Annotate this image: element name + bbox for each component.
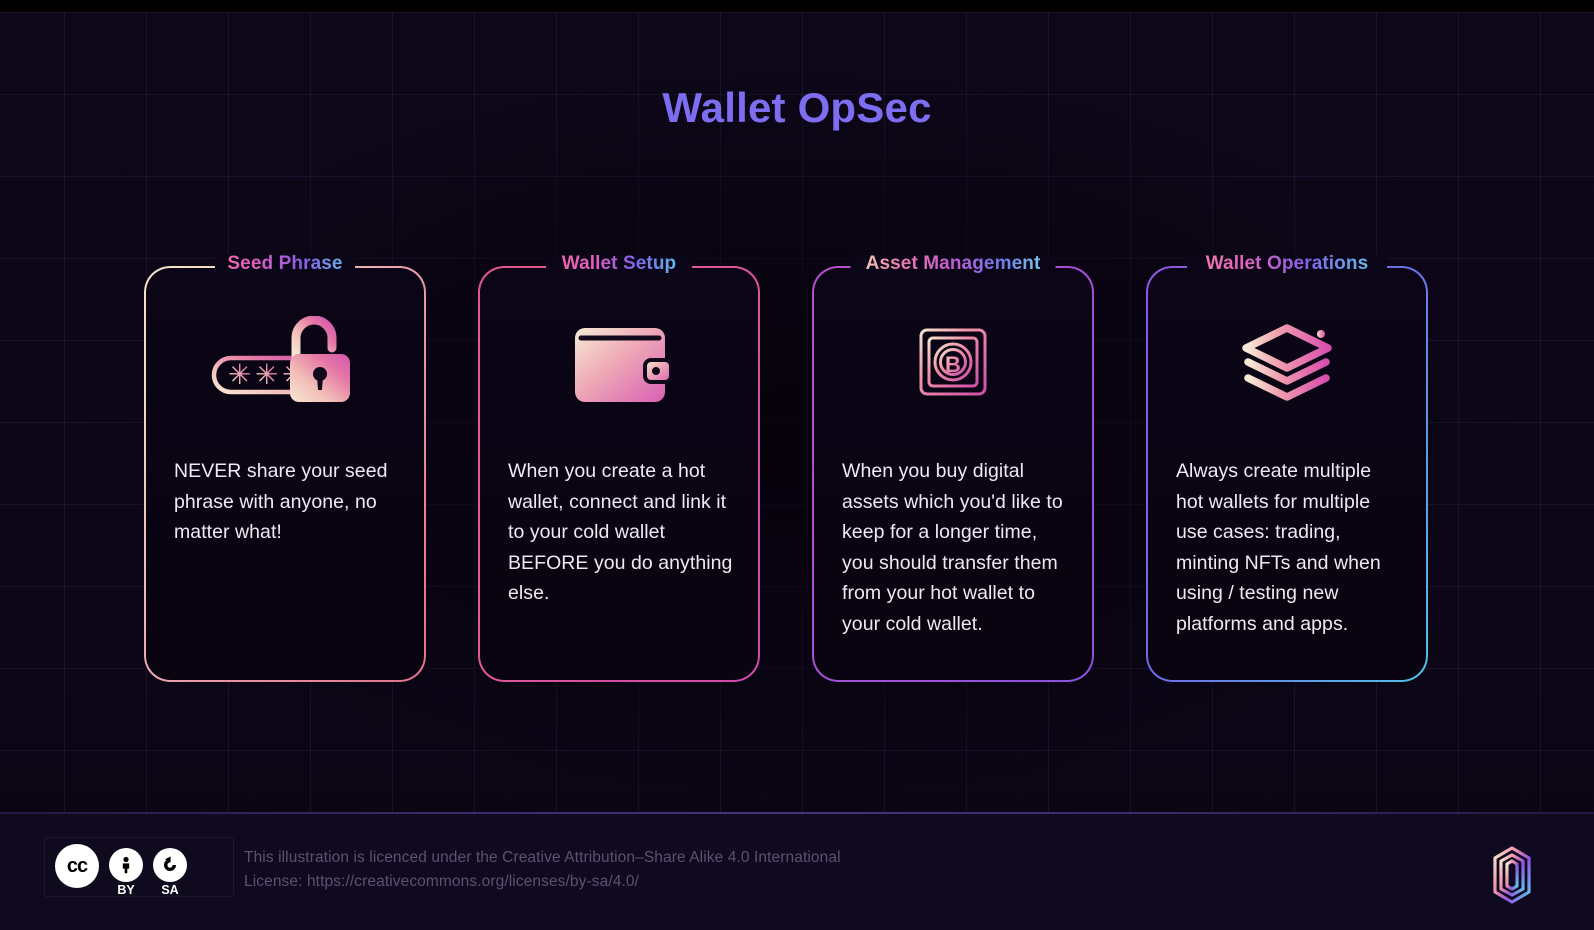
page-title: Wallet OpSec bbox=[0, 84, 1594, 132]
cc-icon: cc bbox=[55, 844, 99, 888]
card-heading-seed-phrase: Seed Phrase bbox=[215, 253, 354, 275]
card-body-wallet-operations: Always create multiple hot wallets for m… bbox=[1176, 456, 1402, 639]
cc-mark-col: cc bbox=[55, 844, 99, 888]
cards-row: Seed Phrase bbox=[142, 264, 1442, 689]
svg-text:✳: ✳ bbox=[228, 358, 251, 391]
brand-logo-icon bbox=[1482, 840, 1546, 912]
cc-by-label: BY bbox=[117, 883, 134, 897]
person-icon bbox=[109, 848, 143, 882]
card-heading-asset-management: Asset Management bbox=[854, 253, 1053, 275]
card-inner: Asset Management bbox=[812, 266, 1094, 682]
card-heading-wallet-operations: Wallet Operations bbox=[1194, 253, 1381, 275]
card-wallet-setup: Wallet Setup bbox=[476, 264, 762, 684]
footer: cc BY bbox=[0, 814, 1594, 930]
svg-text:B: B bbox=[945, 352, 961, 377]
card-body-asset-management: When you buy digital assets which you'd … bbox=[842, 456, 1068, 639]
brand-logo bbox=[1482, 840, 1546, 912]
stacked-layers-icon bbox=[1232, 316, 1342, 408]
license-line-1: This illustration is licenced under the … bbox=[244, 846, 841, 870]
creative-commons-badge: cc BY bbox=[44, 837, 234, 897]
icon-bitcoin-chip-wrap: B bbox=[812, 312, 1094, 412]
cc-sa-label: SA bbox=[161, 883, 178, 897]
icon-wallet-wrap bbox=[478, 312, 760, 412]
bitcoin-chip-icon: B bbox=[907, 316, 999, 408]
password-unlock-icon: ✳ ✳ ✳ bbox=[210, 316, 360, 408]
cc-by-col: BY bbox=[109, 844, 143, 897]
license-line-2: License: https://creativecommons.org/lic… bbox=[244, 870, 841, 894]
card-heading-wallet-setup: Wallet Setup bbox=[550, 253, 689, 275]
license-text: This illustration is licenced under the … bbox=[244, 846, 841, 894]
card-inner: Wallet Operations bbox=[1146, 266, 1428, 682]
wallet-icon bbox=[567, 316, 671, 408]
card-seed-phrase: Seed Phrase bbox=[142, 264, 428, 684]
card-body-seed-phrase: NEVER share your seed phrase with anyone… bbox=[174, 456, 400, 548]
illustration-root: Wallet OpSec Seed Phrase bbox=[0, 0, 1594, 930]
card-wallet-operations: Wallet Operations bbox=[1144, 264, 1430, 684]
canvas-panel: Wallet OpSec Seed Phrase bbox=[0, 12, 1594, 930]
icon-password-unlock-wrap: ✳ ✳ ✳ bbox=[144, 312, 426, 412]
card-body-wallet-setup: When you create a hot wallet, connect an… bbox=[508, 456, 734, 609]
circular-arrow-glyph bbox=[159, 854, 181, 876]
icon-stacked-layers-wrap bbox=[1146, 312, 1428, 412]
card-inner: Wallet Setup bbox=[478, 266, 760, 682]
svg-text:✳: ✳ bbox=[255, 358, 278, 391]
share-alike-icon bbox=[153, 848, 187, 882]
person-glyph bbox=[116, 855, 136, 875]
cc-sa-col: SA bbox=[153, 844, 187, 897]
card-inner: Seed Phrase bbox=[144, 266, 426, 682]
card-asset-management: Asset Management bbox=[810, 264, 1096, 684]
